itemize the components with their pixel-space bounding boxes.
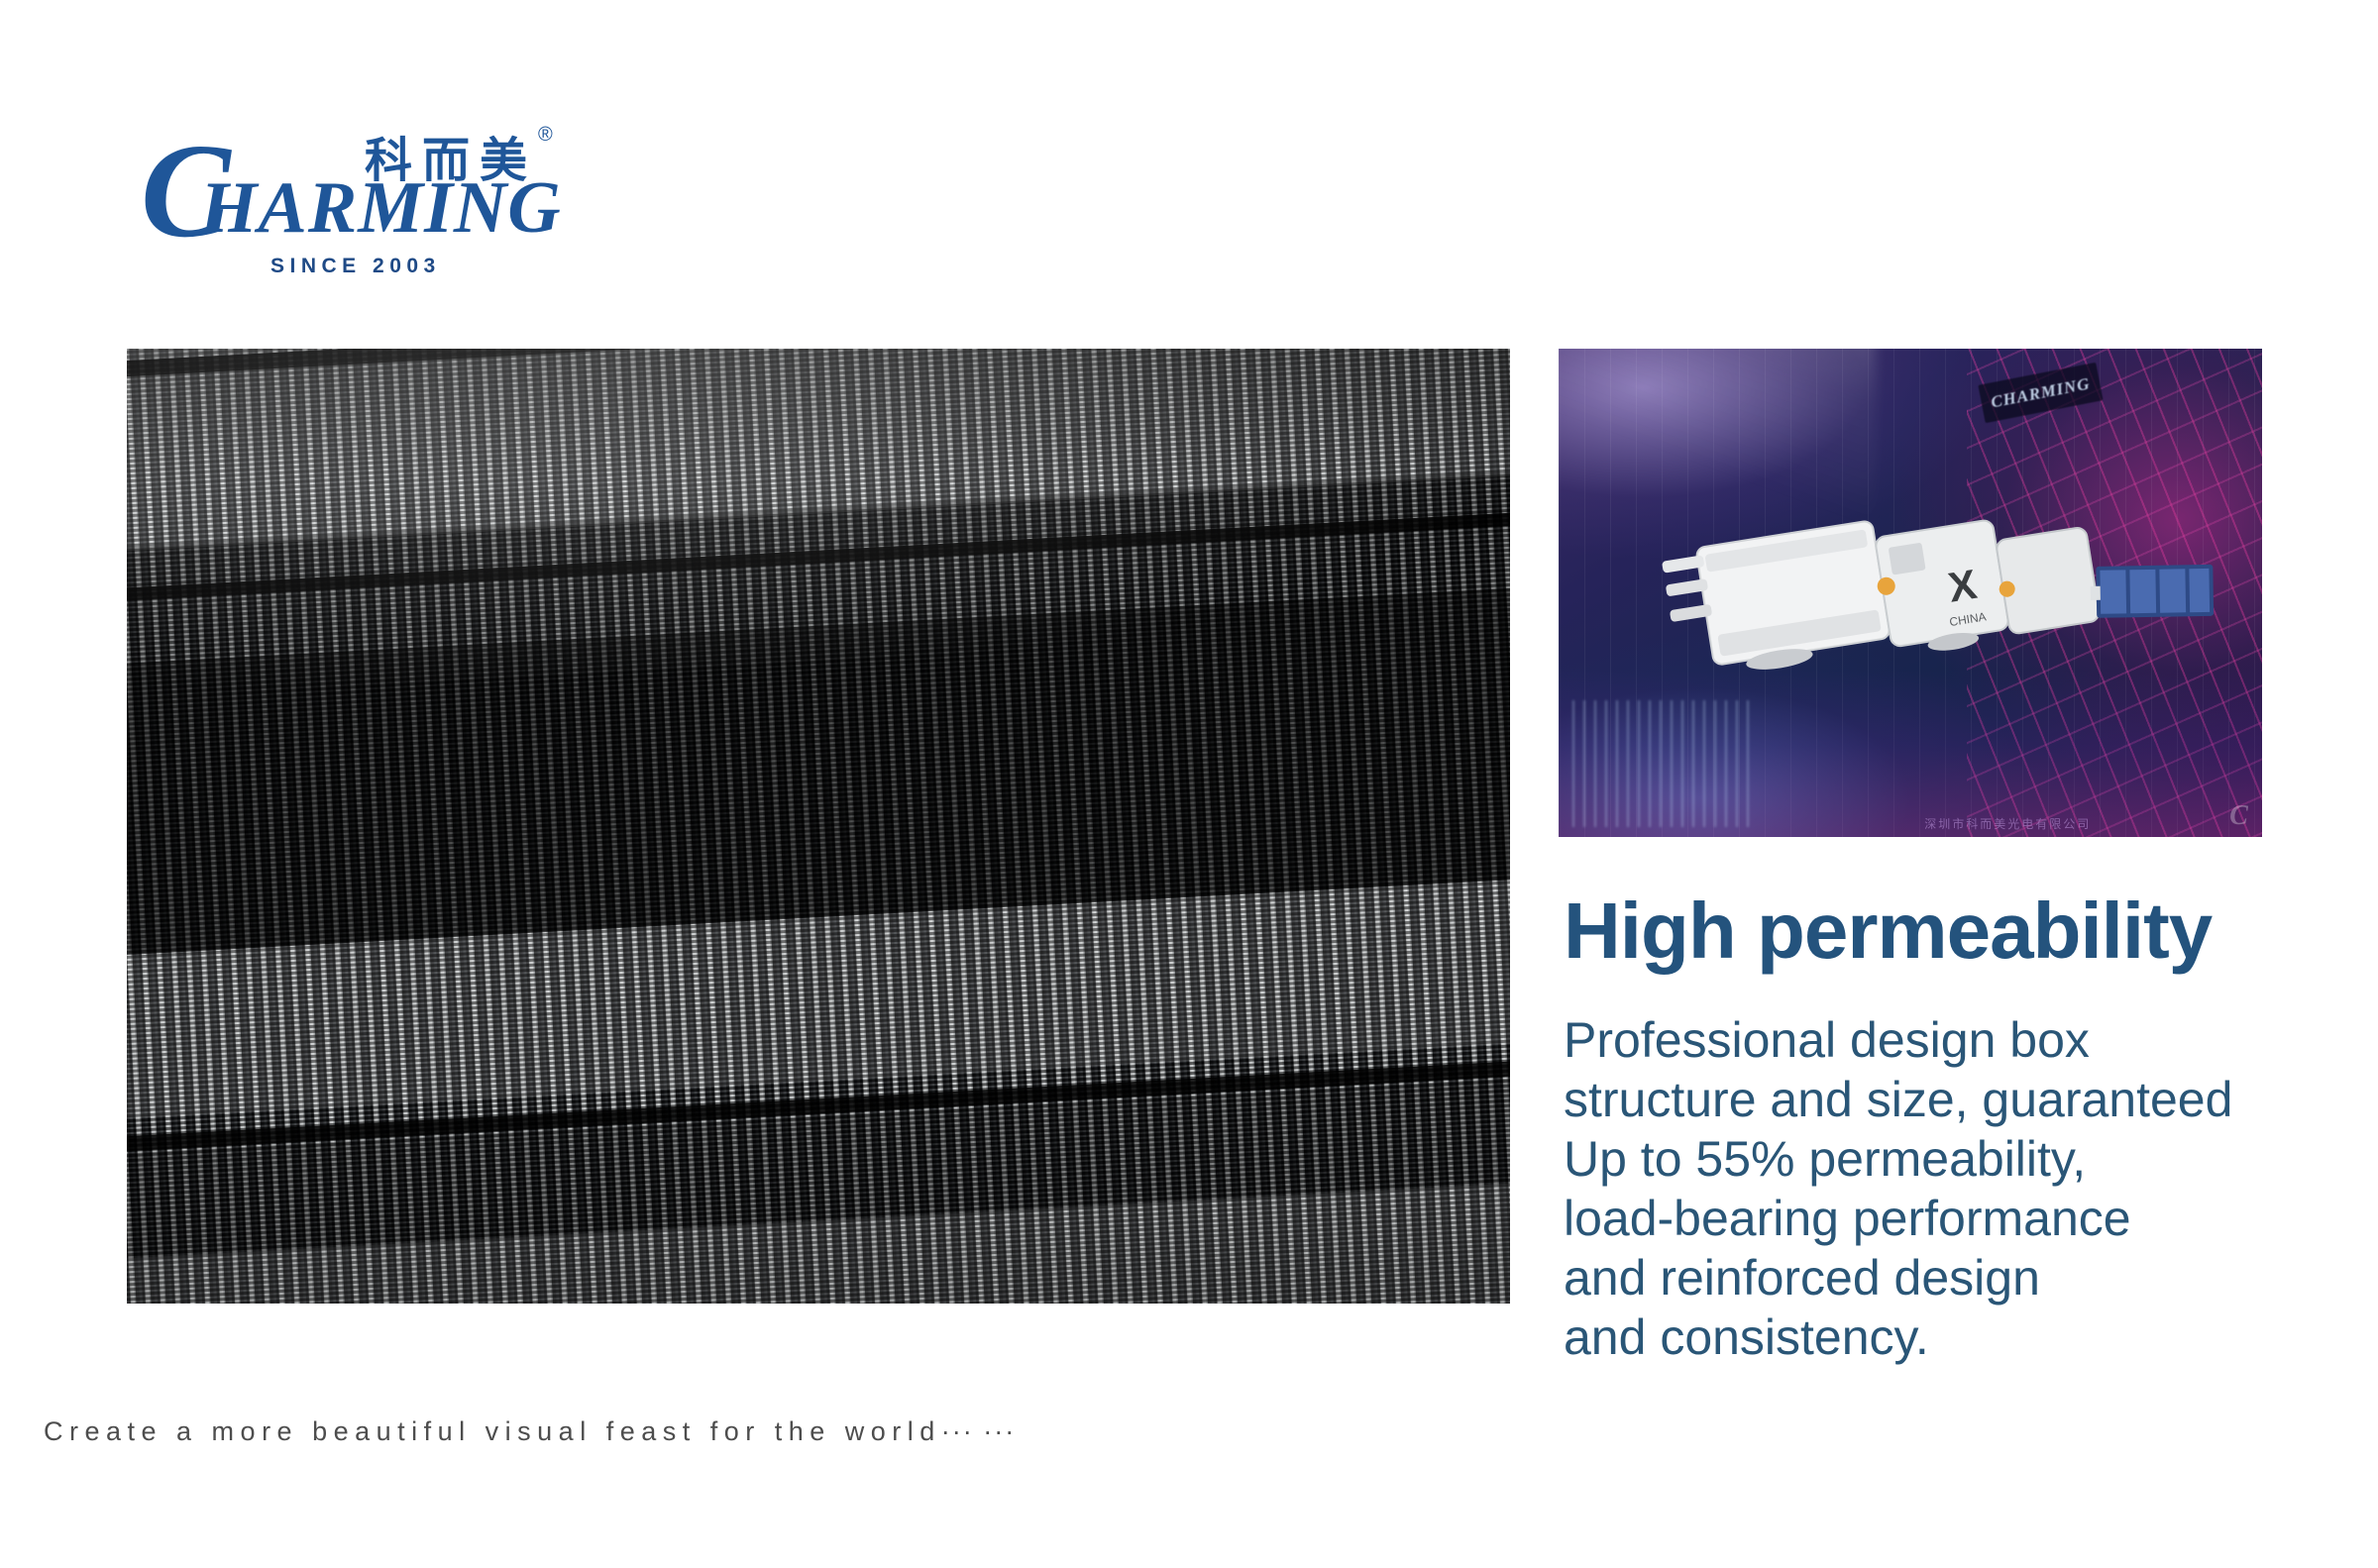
registered-mark-icon: ®	[538, 124, 553, 146]
footer-tagline: Create a more beautiful visual feast for…	[44, 1416, 1016, 1447]
slide-page: C HARMING 科而美 ® SINCE 2003	[0, 0, 2378, 1568]
brand-logo: C HARMING 科而美 ® SINCE 2003	[139, 109, 614, 287]
description-line: Up to 55% permeability,	[1564, 1129, 2356, 1189]
stage-led-wall-photo: X CHINA CHARMING	[1559, 349, 2262, 837]
photo-watermark: C	[2229, 800, 2248, 832]
stage-floor-caption: 深圳市科而美光电有限公司	[1924, 815, 2091, 832]
description-line: and consistency.	[1564, 1307, 2356, 1367]
page-title: High permeability	[1564, 891, 2212, 971]
description-line: load-bearing performance	[1564, 1189, 2356, 1248]
logo-since-text: SINCE 2003	[270, 255, 441, 277]
footer-tagline-text: Create a more beautiful visual feast for…	[44, 1416, 941, 1446]
space-station-graphic: X CHINA	[1559, 349, 2262, 837]
description-line: Professional design box	[1564, 1010, 2356, 1070]
led-panel-texture	[127, 349, 1510, 1304]
description-text: Professional design box structure and si…	[1564, 1010, 2356, 1367]
description-line: structure and size, guaranteed	[1564, 1070, 2356, 1129]
description-line: and reinforced design	[1564, 1248, 2356, 1307]
footer-tagline-dots: ··· ···	[941, 1416, 1016, 1446]
charming-logo-svg: C HARMING 科而美 ® SINCE 2003	[139, 109, 614, 287]
logo-chinese-name: 科而美	[365, 133, 537, 188]
product-photo-led-panel	[127, 349, 1510, 1304]
